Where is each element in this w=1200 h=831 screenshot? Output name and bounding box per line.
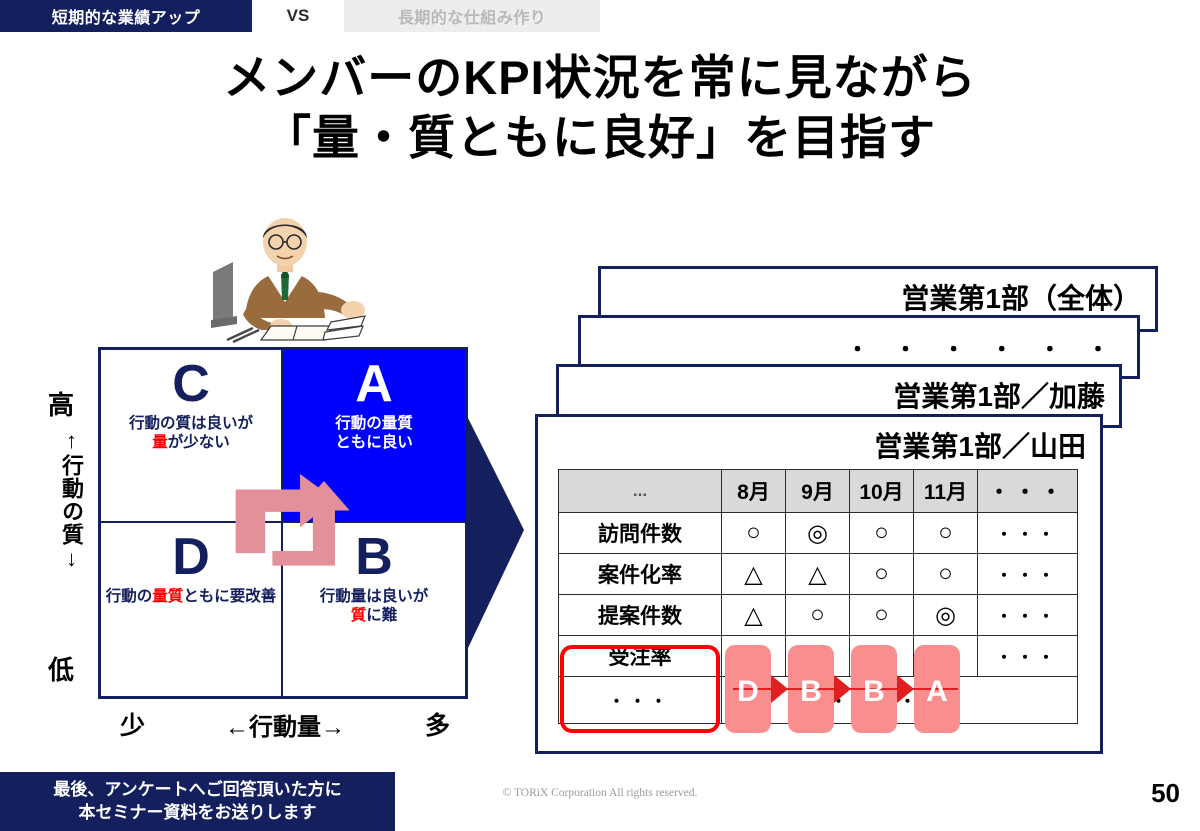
kpi-cell-win-more: ・・・ xyxy=(978,636,1078,677)
title-line-2: 「量・質ともに良好」を目指す xyxy=(0,108,1200,168)
kpi-cell-proposals-more: ・・・ xyxy=(978,595,1078,636)
kpi-cell-win-nov: ○ xyxy=(914,636,978,677)
kpi-col-header-0: ... xyxy=(559,470,722,513)
footer-banner-line-2: 本セミナー資料をお送りします xyxy=(79,802,317,825)
axis-y-label: ↑行動の質↓ xyxy=(52,428,82,572)
kpi-row-label-win-rate: 受注率 xyxy=(559,636,722,677)
kpi-cell-proposals-nov: ◎ xyxy=(914,595,978,636)
kpi-cell-proposals-sep: ○ xyxy=(786,595,850,636)
kpi-cell-opportunity-aug: △ xyxy=(722,554,786,595)
kpi-cell-visits-nov: ○ xyxy=(914,513,978,554)
table-row: ・・・ ・・・・・・ xyxy=(559,677,1078,724)
kpi-cell-proposals-oct: ○ xyxy=(850,595,914,636)
page-number: 50 xyxy=(1151,778,1180,809)
copyright-text: © TORiX Corporation All rights reserved. xyxy=(0,787,1200,799)
kpi-col-header-2: 9月 xyxy=(786,470,850,513)
kpi-cell-visits-more: ・・・ xyxy=(978,513,1078,554)
kpi-cell-visits-aug: ○ xyxy=(722,513,786,554)
table-row: 受注率 △ △ △ ○ ・・・ xyxy=(559,636,1078,677)
kpi-cell-visits-oct: ○ xyxy=(850,513,914,554)
tab-short-term[interactable]: 短期的な業績アップ xyxy=(0,0,252,32)
table-row: 訪問件数 ○ ◎ ○ ○ ・・・ xyxy=(559,513,1078,554)
tab-bar: 短期的な業績アップ VS 長期的な仕組み作り xyxy=(0,0,600,32)
kpi-row-label-visits: 訪問件数 xyxy=(559,513,722,554)
kpi-row-label-more: ・・・ xyxy=(559,677,722,724)
slide: 短期的な業績アップ VS 長期的な仕組み作り メンバーのKPI状況を常に見ながら… xyxy=(0,0,1200,831)
kpi-table-header-row: ... 8月 9月 10月 11月 ・・・ xyxy=(559,470,1078,513)
manager-at-desk-illustration xyxy=(205,200,380,345)
kpi-cell-win-oct: △ xyxy=(850,636,914,677)
page-title: メンバーのKPI状況を常に見ながら 「量・質ともに良好」を目指す xyxy=(0,48,1200,168)
axis-y-high-label: 高 xyxy=(48,385,74,422)
card-member-kato-title: 営業第1部／加藤 xyxy=(893,375,1105,415)
axis-x-low-label: 少 xyxy=(120,706,145,742)
kpi-cell-opportunity-more: ・・・ xyxy=(978,554,1078,595)
kpi-cell-win-sep: △ xyxy=(786,636,850,677)
kpi-cell-proposals-aug: △ xyxy=(722,595,786,636)
kpi-col-header-5: ・・・ xyxy=(978,470,1078,513)
kpi-cell-win-aug: △ xyxy=(722,636,786,677)
quadrant-c-letter: C xyxy=(172,358,210,410)
kpi-col-header-4: 11月 xyxy=(914,470,978,513)
quadrant-a-desc: 行動の量質ともに良い xyxy=(335,414,413,453)
kpi-col-header-1: 8月 xyxy=(722,470,786,513)
kpi-cell-opportunity-oct: ○ xyxy=(850,554,914,595)
kpi-cell-opportunity-sep: △ xyxy=(786,554,850,595)
card-member-yamada[interactable]: 営業第1部／山田 ... 8月 9月 10月 11月 ・・・ 訪問件数 ○ ◎ … xyxy=(535,414,1103,754)
kpi-col-header-3: 10月 xyxy=(850,470,914,513)
tab-vs-label: VS xyxy=(252,0,344,32)
quadrant-d-letter: D xyxy=(172,531,210,583)
axis-x-label: ←行動量→ xyxy=(225,707,345,742)
table-row: 提案件数 △ ○ ○ ◎ ・・・ xyxy=(559,595,1078,636)
improvement-arrows xyxy=(232,468,392,604)
footer-banner: 最後、アンケートへご回答頂いた方に 本セミナー資料をお送りします xyxy=(0,772,395,831)
kpi-row-label-opportunity-rate: 案件化率 xyxy=(559,554,722,595)
card-ellipsis-dots: ・ ・ ・ ・ ・ ・ xyxy=(846,332,1119,364)
quadrant-a-letter: A xyxy=(355,358,393,410)
axis-y-low-label: 低 xyxy=(48,650,74,687)
card-member-yamada-title: 営業第1部／山田 xyxy=(874,425,1086,465)
quadrant-c-desc: 行動の質は良いが量が少ない xyxy=(129,414,253,453)
axis-x-labels: 少 ←行動量→ 多 xyxy=(120,706,450,742)
kpi-row-label-proposals: 提案件数 xyxy=(559,595,722,636)
kpi-cell-more-values: ・・・・・・ xyxy=(722,677,1078,724)
card-dept-total-title: 営業第1部（全体） xyxy=(901,277,1141,317)
kpi-cell-visits-sep: ◎ xyxy=(786,513,850,554)
table-row: 案件化率 △ △ ○ ○ ・・・ xyxy=(559,554,1078,595)
kpi-table: ... 8月 9月 10月 11月 ・・・ 訪問件数 ○ ◎ ○ ○ ・・・ xyxy=(558,469,1078,724)
title-line-1: メンバーのKPI状況を常に見ながら xyxy=(0,48,1200,108)
kpi-cell-opportunity-nov: ○ xyxy=(914,554,978,595)
tab-long-term[interactable]: 長期的な仕組み作り xyxy=(344,0,600,32)
axis-x-high-label: 多 xyxy=(425,706,450,742)
